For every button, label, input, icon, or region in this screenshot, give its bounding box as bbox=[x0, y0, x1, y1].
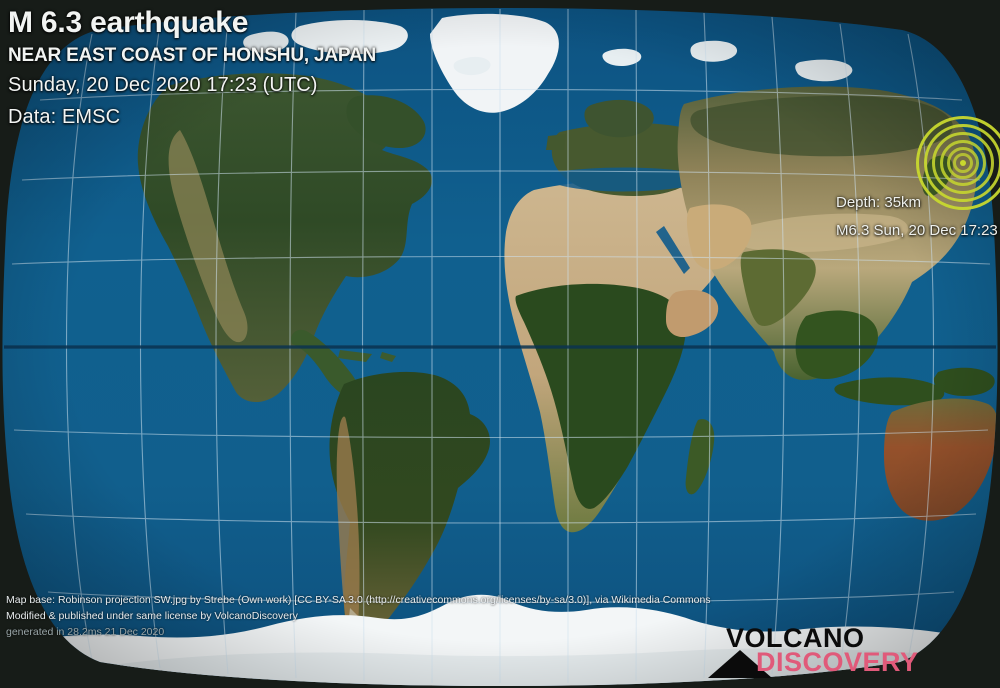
credit-generated: generated in 28.2ms 21 Dec 2020 bbox=[6, 624, 711, 640]
depth-label: Depth: 35km bbox=[836, 194, 921, 211]
credit-map-base: Map base: Robinson projection SW.jpg by … bbox=[6, 592, 711, 608]
logo-word-discovery: DISCOVERY bbox=[756, 648, 919, 676]
page-title: M 6.3 earthquake bbox=[8, 4, 376, 42]
earthquake-map-screenshot: M 6.3 earthquake NEAR EAST COAST OF HONS… bbox=[0, 0, 1000, 688]
region-subtitle: NEAR EAST COAST OF HONSHU, JAPAN bbox=[8, 42, 376, 69]
data-source-label: Data: EMSC bbox=[8, 101, 376, 133]
volcanodiscovery-logo[interactable]: VOLCANO DISCOVERY bbox=[684, 624, 900, 680]
magnitude-time-label: M6.3 Sun, 20 Dec 17:23 bbox=[836, 222, 998, 239]
header-block: M 6.3 earthquake NEAR EAST COAST OF HONS… bbox=[8, 4, 376, 133]
credits-block: Map base: Robinson projection SW.jpg by … bbox=[6, 592, 711, 640]
event-datetime: Sunday, 20 Dec 2020 17:23 (UTC) bbox=[8, 69, 376, 101]
credit-license: Modified & published under same license … bbox=[6, 608, 711, 624]
